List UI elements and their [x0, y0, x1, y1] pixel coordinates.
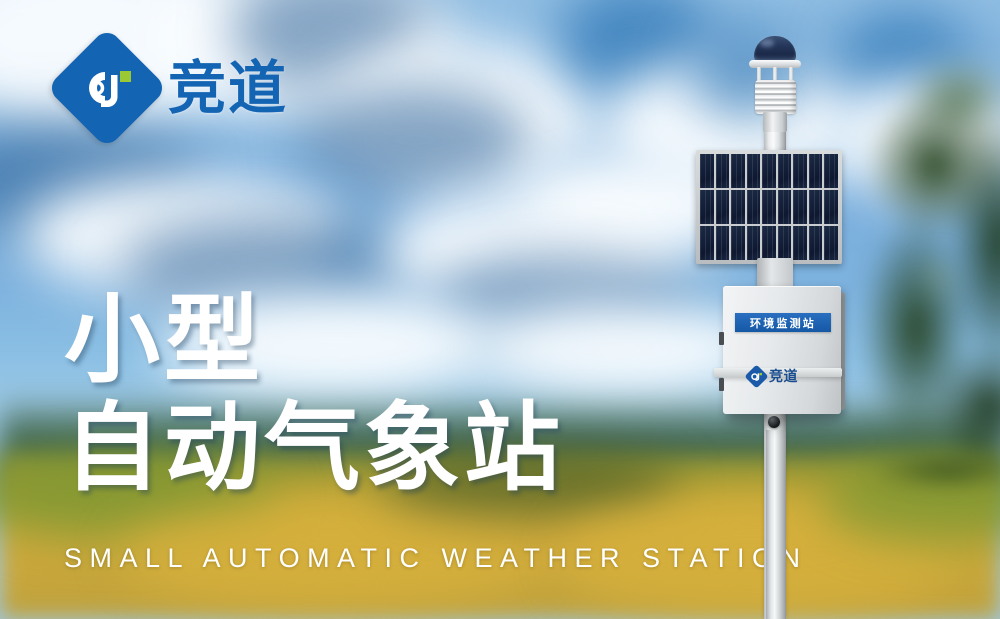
solar-cell — [731, 190, 745, 224]
solar-cell — [762, 226, 776, 260]
solar-cell — [731, 154, 745, 188]
solar-panel-bracket — [757, 258, 793, 288]
solar-cell — [809, 190, 823, 224]
solar-panel — [696, 150, 842, 264]
solar-panel-cells — [700, 154, 838, 260]
pole-mounted-sensor — [768, 416, 780, 428]
ultrasonic-weather-sensor-icon — [746, 36, 804, 128]
control-box-latch — [719, 378, 724, 391]
weather-station-banner: 竞道 小型 自动气象站 SMALL AUTOMATIC WEATHER STAT… — [0, 0, 1000, 619]
solar-cell — [731, 226, 745, 260]
solar-cell — [716, 226, 730, 260]
headline-block: 小型 自动气象站 — [64, 292, 564, 498]
headline-line-2: 自动气象站 — [64, 400, 564, 498]
solar-cell — [778, 226, 792, 260]
logo-glyph-icon — [64, 45, 150, 131]
solar-cell — [716, 154, 730, 188]
solar-cell — [762, 154, 776, 188]
solar-cell — [778, 154, 792, 188]
sensor-dome — [754, 36, 796, 62]
control-box-latch — [719, 332, 724, 345]
solar-cell — [747, 226, 761, 260]
control-box-brand-wordmark: 竞道 — [769, 370, 798, 384]
box-drop-shadow — [727, 414, 839, 426]
solar-cell — [762, 190, 776, 224]
control-box-brand-logo: 竞道 — [748, 368, 798, 385]
solar-cell — [793, 190, 807, 224]
jingdao-diamond-logo-icon — [64, 45, 150, 131]
control-box — [723, 286, 841, 414]
mounting-pole-lower — [766, 430, 785, 619]
solar-cell — [809, 226, 823, 260]
solar-cell — [824, 154, 838, 188]
solar-cell — [778, 190, 792, 224]
solar-cell — [793, 154, 807, 188]
jingdao-diamond-logo-icon-small — [748, 368, 765, 385]
tree-highlight — [906, 236, 970, 320]
headline-subtitle: SMALL AUTOMATIC WEATHER STATION — [64, 543, 808, 574]
solar-cell — [793, 226, 807, 260]
solar-cell — [809, 154, 823, 188]
brand-wordmark: 竞道 — [168, 59, 288, 117]
control-box-banner: 环境监测站 — [735, 313, 831, 332]
headline-line-1: 小型 — [64, 292, 564, 390]
solar-cell — [700, 226, 714, 260]
logo-glyph-icon-small — [748, 368, 765, 385]
solar-cell — [716, 190, 730, 224]
solar-cell — [700, 154, 714, 188]
solar-cell — [824, 190, 838, 224]
solar-cell — [824, 226, 838, 260]
sensor-neck — [763, 112, 787, 132]
solar-cell — [747, 154, 761, 188]
radiation-shield — [755, 80, 796, 114]
solar-cell — [700, 190, 714, 224]
solar-cell — [747, 190, 761, 224]
control-box-banner-text: 环境监测站 — [750, 315, 816, 331]
brand-logo[interactable]: 竞道 — [64, 45, 288, 131]
